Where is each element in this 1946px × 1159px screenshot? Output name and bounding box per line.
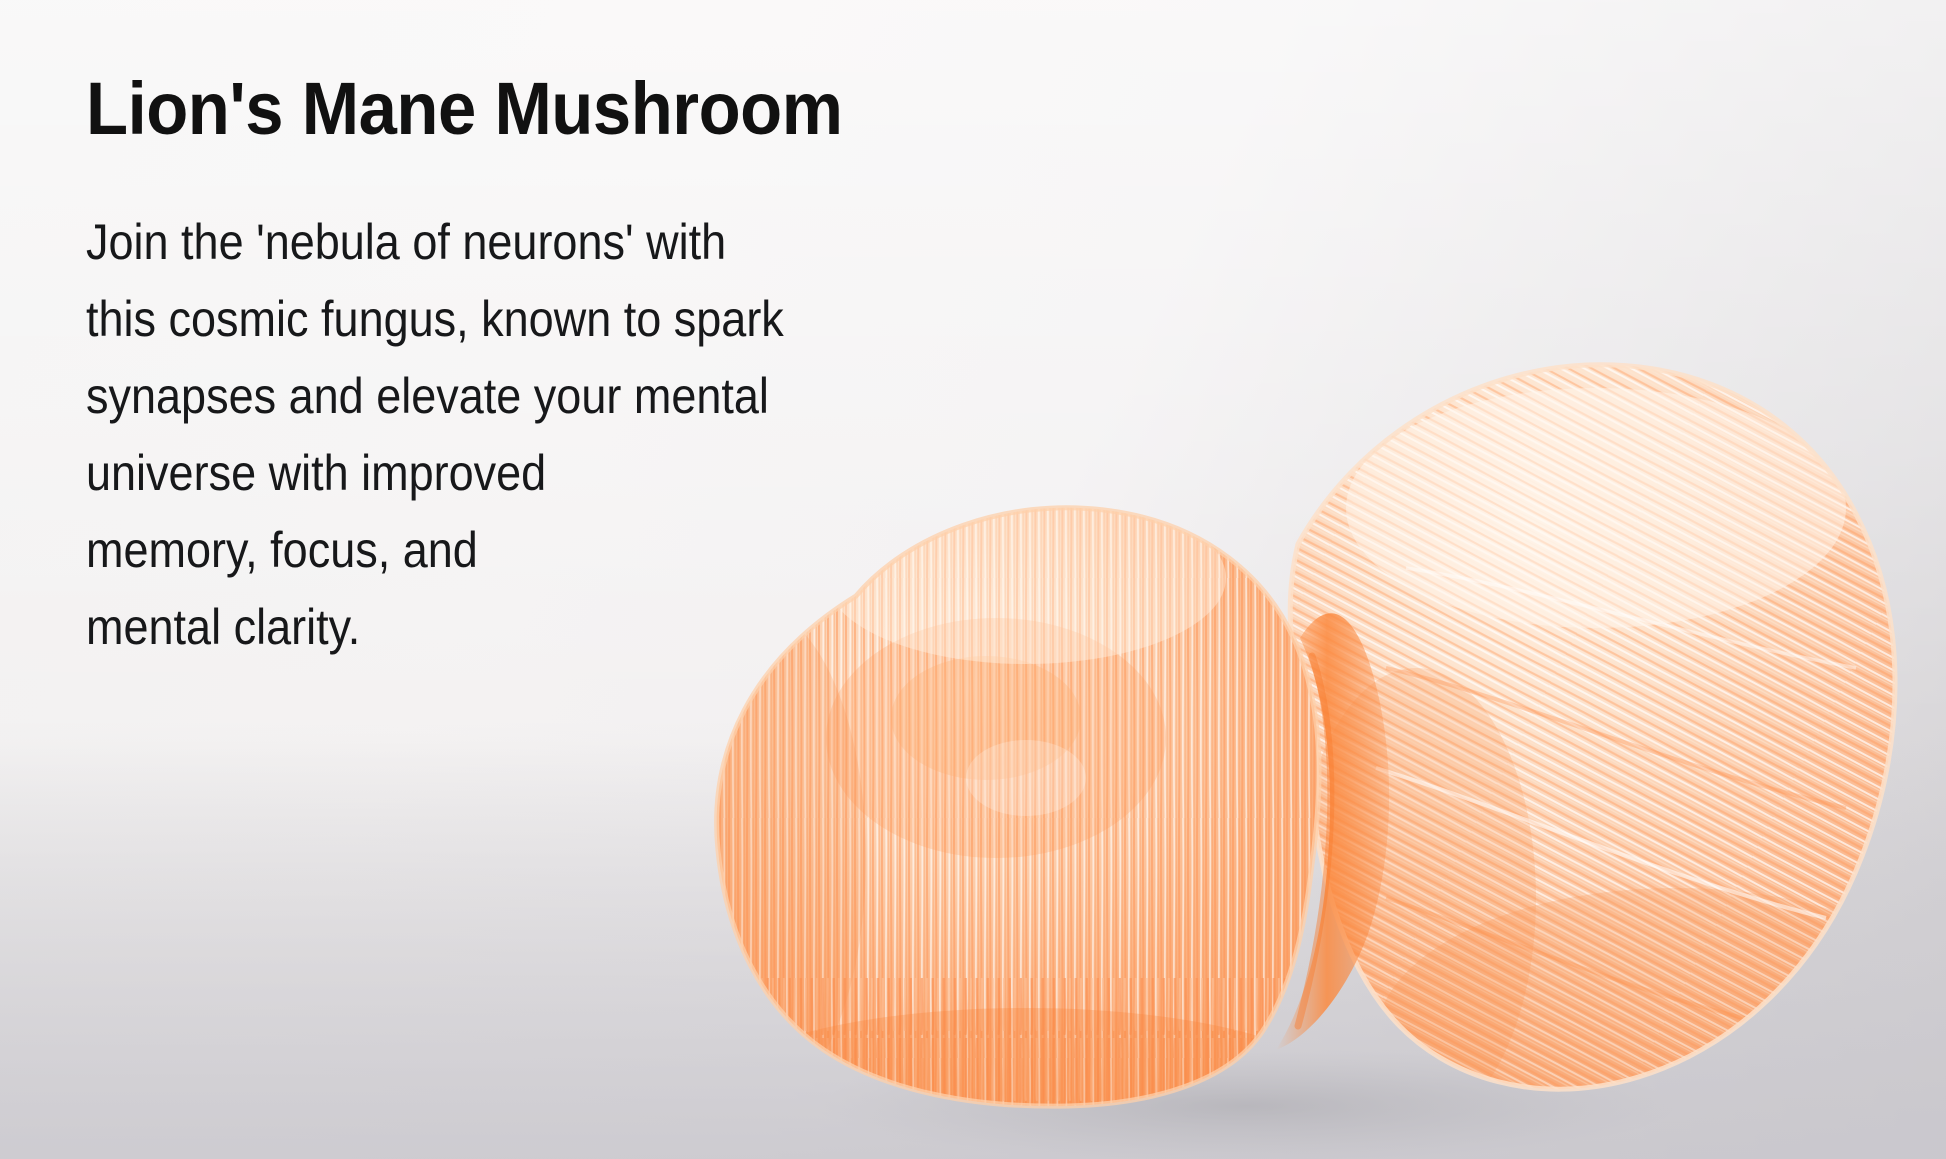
description-line-6: mental clarity.	[86, 589, 896, 666]
description-line-1: Join the 'nebula of neurons' with	[86, 204, 896, 281]
description-line-3: synapses and elevate your mental	[86, 358, 896, 435]
description-line-2: this cosmic fungus, known to spark	[86, 281, 896, 358]
description-line-5: memory, focus, and	[86, 512, 896, 589]
description-paragraph: Join the 'nebula of neurons' with this c…	[86, 204, 986, 666]
lions-mane-info-card: Lion's Mane Mushroom Join the 'nebula of…	[0, 0, 1946, 1159]
description-line-4: universe with improved	[86, 435, 896, 512]
text-content-block: Lion's Mane Mushroom Join the 'nebula of…	[86, 72, 986, 666]
page-title: Lion's Mane Mushroom	[86, 72, 923, 146]
